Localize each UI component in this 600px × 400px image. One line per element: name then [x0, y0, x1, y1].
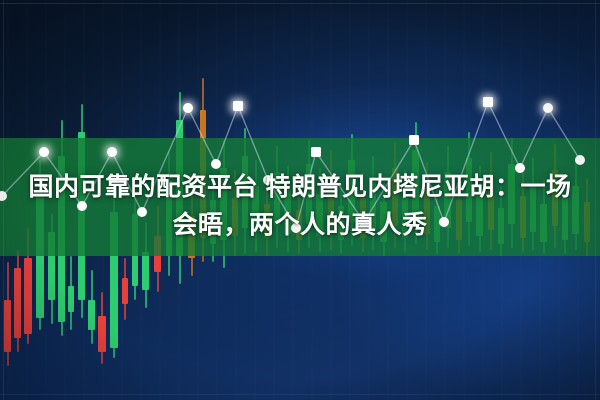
border-line-top [0, 3, 600, 4]
headline: 国内可靠的配资平台 特朗普见内塔尼亚胡：一场 会晤，两个人的真人秀 [0, 168, 600, 244]
headline-line-1: 国内可靠的配资平台 特朗普见内塔尼亚胡：一场 [0, 168, 600, 206]
border-line-bottom [0, 394, 600, 395]
promo-banner: 国内可靠的配资平台 特朗普见内塔尼亚胡：一场 会晤，两个人的真人秀 [0, 0, 600, 400]
headline-line-2: 会晤，两个人的真人秀 [0, 206, 600, 244]
